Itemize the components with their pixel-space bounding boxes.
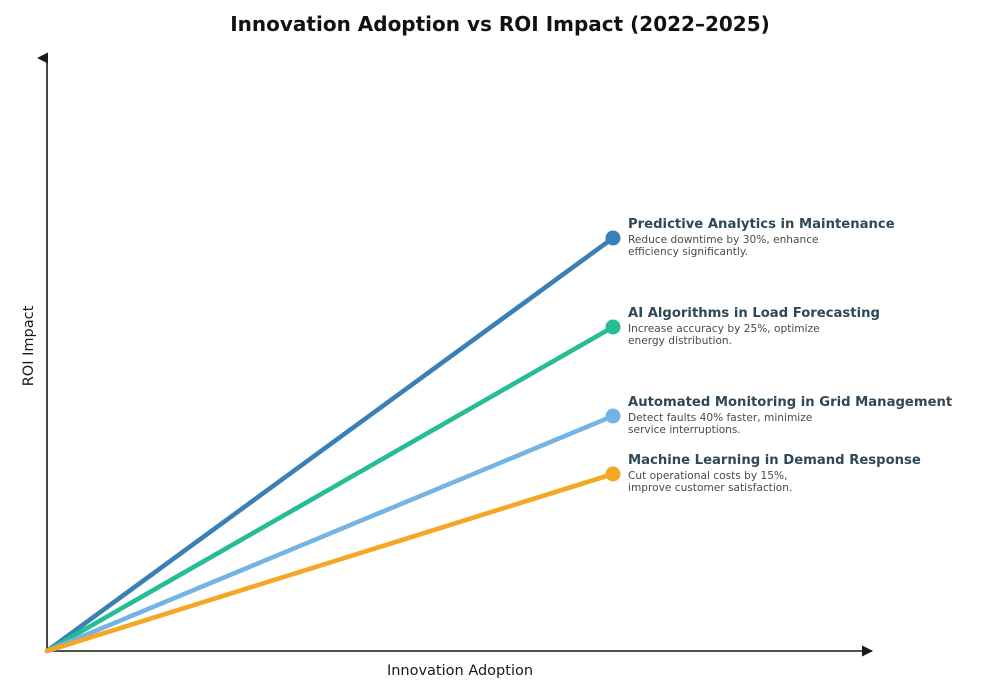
series-annotation-desc-0-line2: efficiency significantly. xyxy=(628,246,895,258)
series-line-1 xyxy=(47,327,613,651)
series-line-0 xyxy=(47,238,613,651)
series-annotation-desc-2: Detect faults 40% faster, minimize servi… xyxy=(628,412,952,437)
data-point-marker-2[interactable] xyxy=(606,409,621,424)
y-axis-label: ROI Impact xyxy=(21,286,37,406)
series-line-2 xyxy=(47,416,613,651)
data-point-marker-1[interactable] xyxy=(606,320,621,335)
series-annotation-desc-1: Increase accuracy by 25%, optimize energ… xyxy=(628,323,880,348)
series-annotation-desc-3-line2: improve customer satisfaction. xyxy=(628,482,921,494)
series-annotation-desc-1-line2: energy distribution. xyxy=(628,335,880,347)
series-marker-group xyxy=(606,231,621,482)
series-annotation-desc-0: Reduce downtime by 30%, enhance efficien… xyxy=(628,234,895,259)
x-axis-label: Innovation Adoption xyxy=(0,663,920,679)
series-line-3 xyxy=(47,474,613,651)
series-annotation-desc-2-line2: service interruptions. xyxy=(628,424,952,436)
series-annotation-desc-1-line1: Increase accuracy by 25%, optimize xyxy=(628,323,880,335)
series-annotation-3: Machine Learning in Demand Response Cut … xyxy=(628,453,921,495)
series-annotation-desc-3: Cut operational costs by 15%, improve cu… xyxy=(628,470,921,495)
series-annotation-1: AI Algorithms in Load Forecasting Increa… xyxy=(628,306,880,348)
series-annotation-desc-0-line1: Reduce downtime by 30%, enhance xyxy=(628,234,895,246)
series-annotation-desc-2-line1: Detect faults 40% faster, minimize xyxy=(628,412,952,424)
chart-plot-area xyxy=(0,0,1000,700)
series-annotation-2: Automated Monitoring in Grid Management … xyxy=(628,395,952,437)
series-annotation-title-1: AI Algorithms in Load Forecasting xyxy=(628,306,880,321)
chart-canvas: Innovation Adoption vs ROI Impact (2022–… xyxy=(0,0,1000,700)
series-annotation-title-2: Automated Monitoring in Grid Management xyxy=(628,395,952,410)
data-point-marker-0[interactable] xyxy=(606,231,621,246)
series-annotation-desc-3-line1: Cut operational costs by 15%, xyxy=(628,470,921,482)
series-annotation-title-0: Predictive Analytics in Maintenance xyxy=(628,217,895,232)
series-line-group xyxy=(47,238,613,651)
series-annotation-0: Predictive Analytics in Maintenance Redu… xyxy=(628,217,895,259)
series-annotation-title-3: Machine Learning in Demand Response xyxy=(628,453,921,468)
data-point-marker-3[interactable] xyxy=(606,467,621,482)
